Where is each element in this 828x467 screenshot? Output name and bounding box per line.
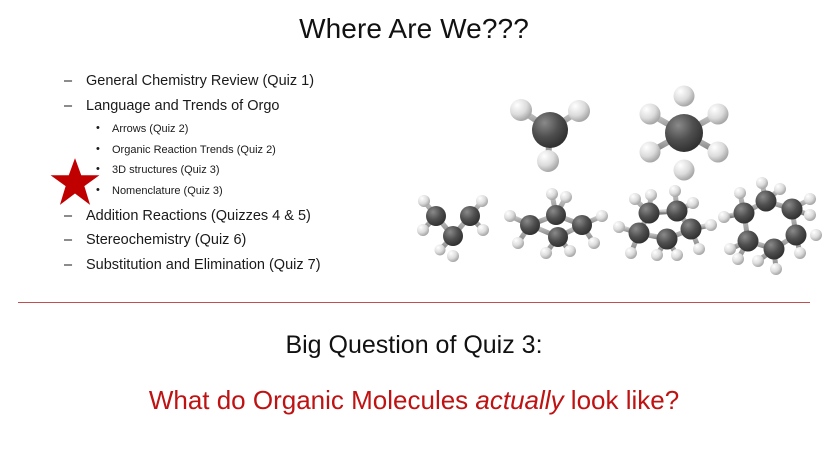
list-item-3d-structures: • 3D structures (Quiz 3): [62, 165, 402, 176]
list-item: • Nomenclature (Quiz 3): [62, 186, 402, 197]
dot-bullet-icon: •: [96, 144, 100, 155]
question-part2: look like?: [564, 385, 680, 415]
list-item: – Substitution and Elimination (Quiz 7): [62, 258, 402, 273]
list-item: • Organic Reaction Trends (Quiz 2): [62, 145, 402, 156]
methane-model: [495, 85, 615, 185]
horizontal-divider: [18, 302, 810, 303]
list-item-label: Language and Trends of Orgo: [86, 98, 279, 114]
cyclopentane-model: [605, 181, 730, 273]
list-item: – Addition Reactions (Quizzes 4 & 5): [62, 209, 402, 224]
list-item-label: General Chemistry Review (Quiz 1): [86, 73, 314, 89]
cyclobutane-model: [500, 185, 615, 270]
red-star-icon: [49, 157, 101, 207]
list-item-label: Arrows (Quiz 2): [112, 123, 188, 135]
outline-list: – General Chemistry Review (Quiz 1) – La…: [62, 74, 402, 282]
dot-bullet-icon: •: [96, 123, 100, 134]
list-item: • Arrows (Quiz 2): [62, 124, 402, 135]
dash-bullet-icon: –: [64, 74, 72, 89]
question-emphasis: actually: [475, 385, 563, 415]
list-item: – Stereochemistry (Quiz 6): [62, 233, 402, 248]
page-title: Where Are We???: [0, 14, 828, 45]
molecule-models-group: [400, 85, 828, 275]
list-item-label: Substitution and Elimination (Quiz 7): [86, 257, 321, 273]
list-item-label: Addition Reactions (Quizzes 4 & 5): [86, 208, 311, 224]
dash-bullet-icon: –: [64, 99, 72, 114]
list-item-label: Organic Reaction Trends (Quiz 2): [112, 144, 276, 156]
dash-bullet-icon: –: [64, 233, 72, 248]
list-item: – Language and Trends of Orgo: [62, 99, 402, 114]
list-item: – General Chemistry Review (Quiz 1): [62, 74, 402, 89]
cyclohexane-model: [718, 177, 823, 275]
slide-canvas: Where Are We??? – General Chemistry Revi…: [0, 0, 828, 467]
list-item-label: 3D structures (Quiz 3): [112, 164, 220, 176]
bottom-heading: Big Question of Quiz 3:: [0, 331, 828, 360]
list-item-label: Nomenclature (Quiz 3): [112, 185, 223, 197]
ethane-newman-model: [620, 83, 750, 188]
list-item-label: Stereochemistry (Quiz 6): [86, 232, 246, 248]
question-part1: What do Organic Molecules: [149, 385, 476, 415]
dash-bullet-icon: –: [64, 258, 72, 273]
bottom-question: What do Organic Molecules actually look …: [0, 385, 828, 416]
dash-bullet-icon: –: [64, 209, 72, 224]
cyclopropane-model: [410, 188, 500, 268]
